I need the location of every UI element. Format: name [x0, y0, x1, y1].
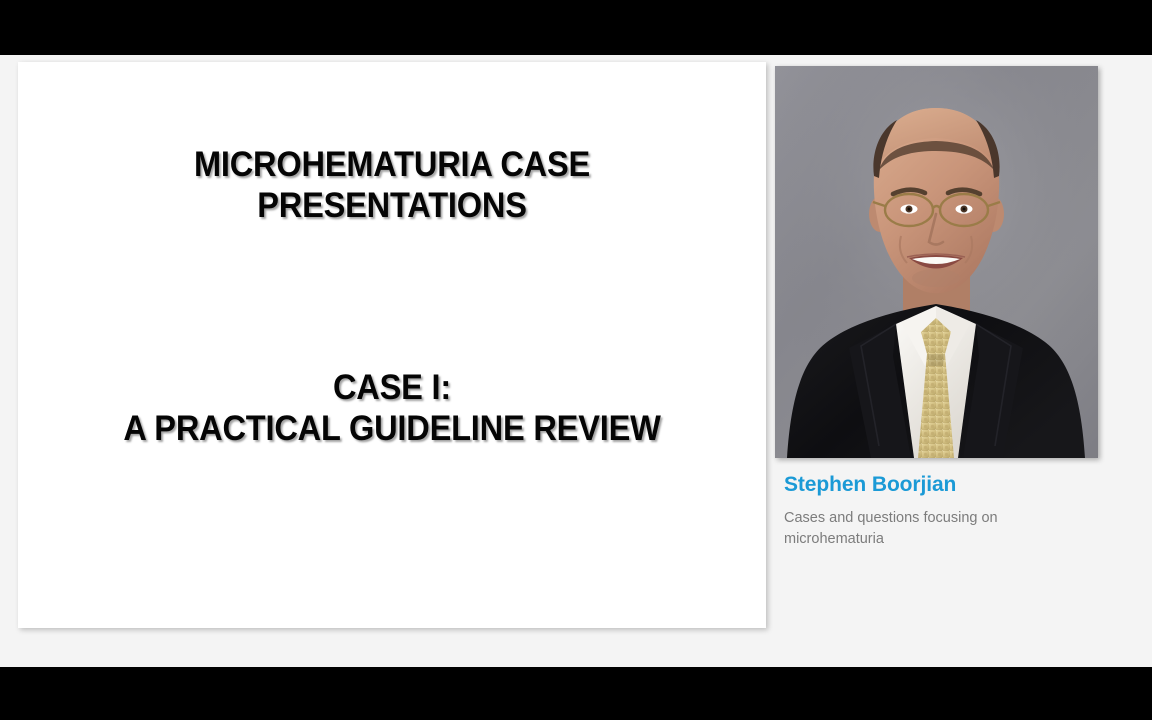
speaker-description: Cases and questions focusing on microhem… — [784, 508, 1052, 550]
slide-panel: MICROHEMATURIA CASE PRESENTATIONS CASE I… — [18, 62, 766, 628]
speaker-column: Stephen Boorjian Cases and questions foc… — [775, 55, 1152, 667]
slide-title-main: MICROHEMATURIA CASE PRESENTATIONS — [44, 144, 740, 227]
slide-title-main-line2: PRESENTATIONS — [44, 185, 740, 226]
slide-canvas: MICROHEMATURIA CASE PRESENTATIONS CASE I… — [0, 55, 1152, 667]
speaker-photo — [775, 66, 1098, 458]
slide-title-case: CASE I: A PRACTICAL GUIDELINE REVIEW — [44, 367, 740, 450]
slide-title-main-line1: MICROHEMATURIA CASE — [44, 144, 740, 185]
slide-title-case-line2: A PRACTICAL GUIDELINE REVIEW — [44, 408, 740, 449]
speaker-name: Stephen Boorjian — [784, 473, 1144, 497]
video-player-stage: MICROHEMATURIA CASE PRESENTATIONS CASE I… — [0, 0, 1152, 720]
letterbox-bottom-bar — [0, 667, 1152, 720]
letterbox-top-bar — [0, 0, 1152, 55]
speaker-portrait-illustration — [775, 66, 1098, 458]
slide-title-case-line1: CASE I: — [44, 367, 740, 408]
